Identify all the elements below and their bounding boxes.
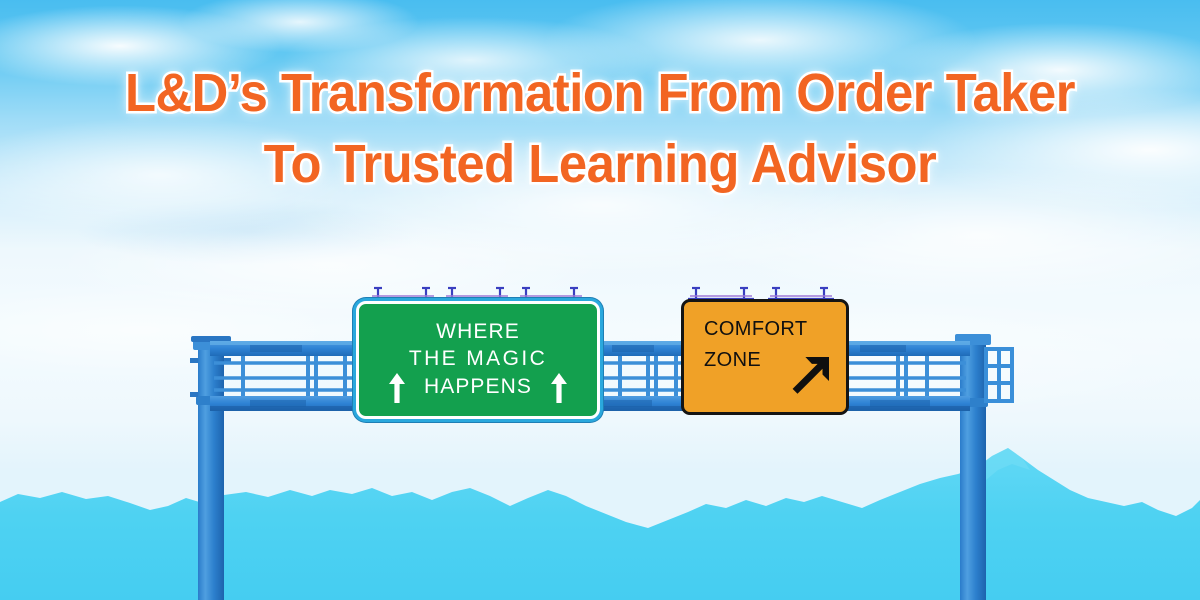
orange-highway-sign[interactable]: COMFORT ZONE bbox=[681, 299, 849, 415]
arrow-up-icon-right bbox=[550, 373, 568, 403]
arrow-up-right-diagonal-icon bbox=[788, 354, 834, 400]
gantry-right-support-column bbox=[955, 334, 1012, 600]
green-sign-line-2: THE MAGIC bbox=[409, 346, 547, 373]
gantry-left-support-column bbox=[190, 336, 231, 600]
orange-sign-line-1: COMFORT bbox=[704, 314, 846, 345]
green-sign-line-1: WHERE bbox=[436, 319, 520, 346]
green-highway-sign[interactable]: WHERE THE MAGIC HAPPENS bbox=[356, 301, 600, 419]
title-line-1: L&D’s Transformation From Order Taker bbox=[36, 58, 1164, 129]
green-sign-line-3: HAPPENS bbox=[424, 374, 532, 401]
title-line-2: To Trusted Learning Advisor bbox=[36, 129, 1164, 200]
green-sign-line-3-row: HAPPENS bbox=[359, 373, 597, 403]
banner-image: WHERE THE MAGIC HAPPENS COMFORT ZONE L&D… bbox=[0, 0, 1200, 600]
page-title: L&D’s Transformation From Order Taker To… bbox=[0, 58, 1200, 201]
arrow-up-icon-left bbox=[388, 373, 406, 403]
maintenance-cage bbox=[986, 349, 1012, 401]
